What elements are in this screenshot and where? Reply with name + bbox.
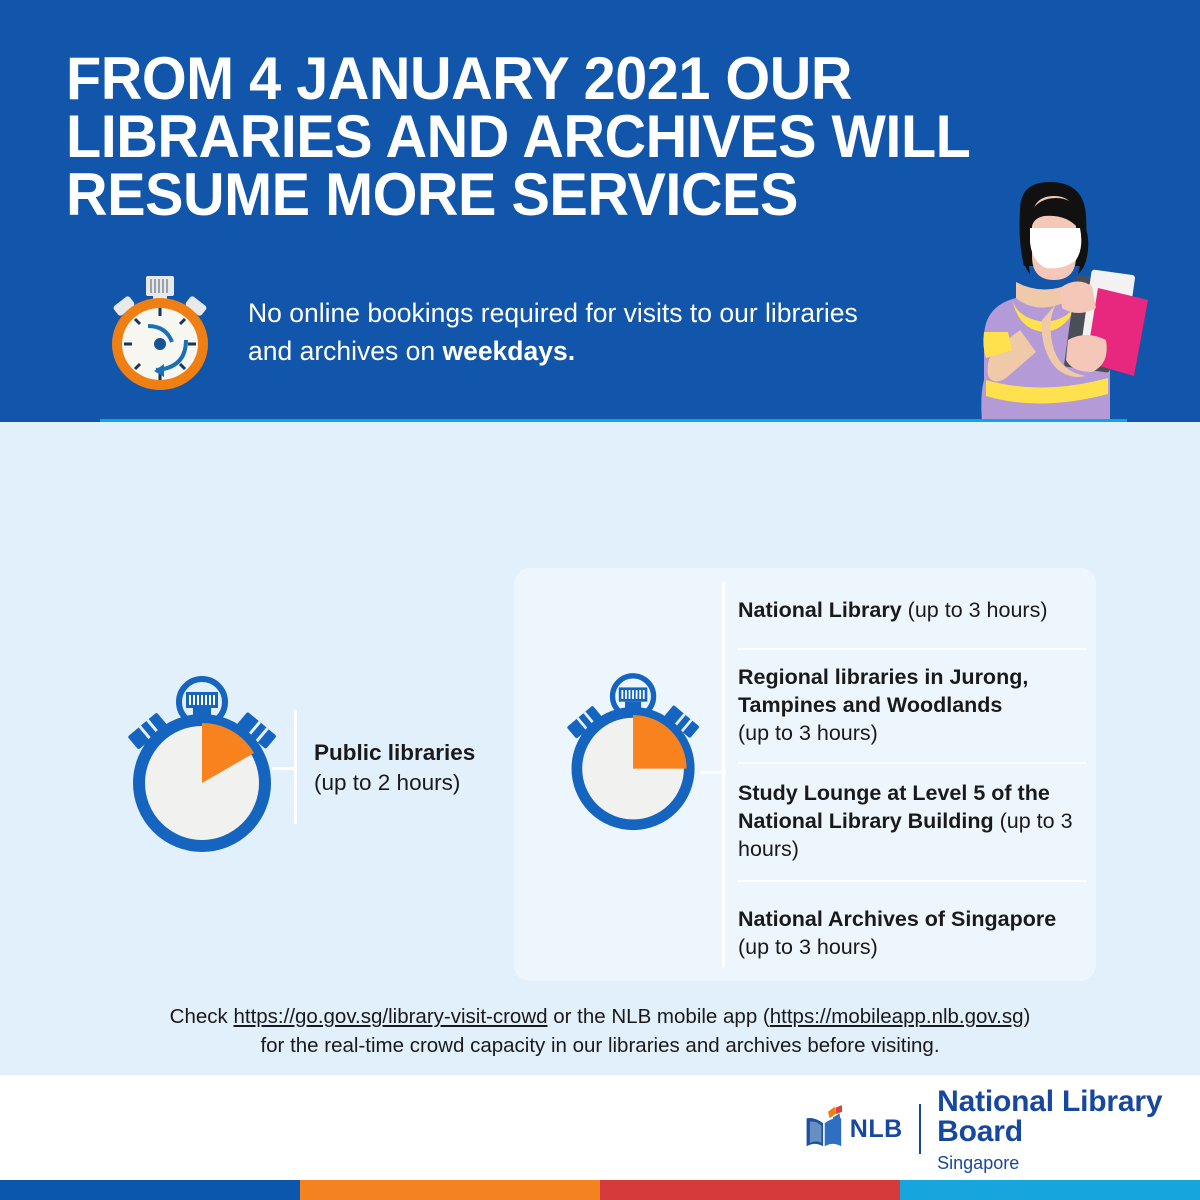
footer-color-bar bbox=[0, 1180, 1200, 1200]
list-item-duration: (up to 3 hours) bbox=[738, 935, 878, 959]
public-libraries-duration: (up to 2 hours) bbox=[314, 770, 460, 795]
list-item: Study Lounge at Level 5 of the National … bbox=[738, 762, 1088, 880]
logo-line-2: Singapore bbox=[937, 1154, 1200, 1172]
public-libraries-group: Public libraries (up to 2 hours) bbox=[110, 668, 510, 853]
list-item: Regional libraries in Jurong, Tampines a… bbox=[738, 648, 1088, 762]
extended-hours-list: National Library (up to 3 hours) Regiona… bbox=[738, 572, 1088, 985]
list-item-name: Regional libraries in Jurong, Tampines a… bbox=[738, 665, 1028, 717]
open-book-icon bbox=[800, 1100, 848, 1158]
color-band-blue bbox=[0, 1180, 300, 1200]
logo-divider bbox=[919, 1104, 921, 1154]
page-title: FROM 4 JANUARY 2021 OUR LIBRARIES AND AR… bbox=[66, 50, 1103, 224]
weekday-text-bold: weekdays. bbox=[442, 336, 575, 366]
connector-horizontal bbox=[700, 771, 726, 774]
list-vertical-divider bbox=[722, 582, 725, 967]
list-item-duration: (up to 3 hours) bbox=[738, 721, 878, 745]
list-item: National Library (up to 3 hours) bbox=[738, 572, 1088, 648]
public-libraries-name: Public libraries bbox=[314, 740, 475, 765]
infographic-poster: FROM 4 JANUARY 2021 OUR LIBRARIES AND AR… bbox=[0, 0, 1200, 1200]
logo-abbr: NLB bbox=[850, 1115, 903, 1144]
list-item-name: National Archives of Singapore bbox=[738, 907, 1056, 931]
color-band-orange bbox=[300, 1180, 600, 1200]
logo-wordmark: National Library Board Singapore bbox=[937, 1087, 1200, 1172]
footnote-part3: ) bbox=[1024, 1005, 1031, 1028]
color-band-red bbox=[600, 1180, 900, 1200]
crowd-link[interactable]: https://go.gov.sg/library-visit-crowd bbox=[233, 1005, 547, 1028]
footnote-line2: for the real-time crowd capacity in our … bbox=[260, 1034, 939, 1057]
mobile-app-link[interactable]: https://mobileapp.nlb.gov.sg bbox=[770, 1005, 1024, 1028]
weekday-notice: No online bookings required for visits t… bbox=[100, 272, 890, 392]
connector-horizontal bbox=[272, 767, 296, 770]
connector-vertical bbox=[294, 710, 297, 824]
footnote: Check https://go.gov.sg/library-visit-cr… bbox=[100, 1002, 1100, 1060]
list-item-duration: (up to 3 hours) bbox=[908, 598, 1048, 622]
footnote-part1: Check bbox=[170, 1005, 234, 1028]
list-item: National Archives of Singapore (up to 3 … bbox=[738, 880, 1088, 985]
nlb-logo: NLB National Library Board Singapore bbox=[800, 1096, 1200, 1162]
color-band-cyan bbox=[900, 1180, 1200, 1200]
logo-line-1: National Library Board bbox=[937, 1087, 1200, 1147]
stopwatch-blue-icon bbox=[110, 668, 295, 853]
stopwatch-blue-icon bbox=[551, 666, 716, 831]
weekday-text: No online bookings required for visits t… bbox=[248, 294, 888, 370]
list-item-name: National Library bbox=[738, 598, 902, 622]
stopwatch-orange-icon bbox=[100, 272, 220, 392]
public-libraries-label: Public libraries (up to 2 hours) bbox=[314, 738, 534, 798]
footnote-part2: or the NLB mobile app ( bbox=[548, 1005, 770, 1028]
